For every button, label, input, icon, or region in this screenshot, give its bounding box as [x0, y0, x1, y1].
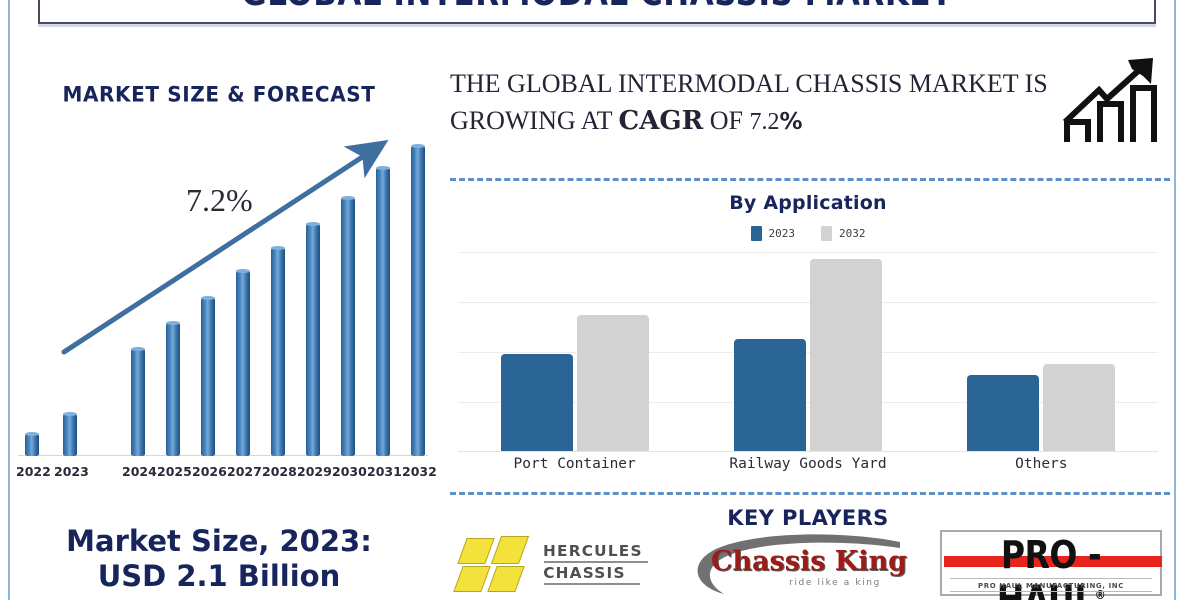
legend-item-2023[interactable]: 2023 — [751, 226, 796, 241]
cagr-statement-part2: OF — [703, 106, 749, 135]
logo-hercules-chassis[interactable]: HERCULES CHASSIS — [458, 534, 658, 596]
app-bar-others-2032 — [1043, 364, 1115, 451]
forecast-bar-2027 — [236, 271, 250, 456]
legend-label-2023: 2023 — [769, 227, 796, 240]
hercules-mark-d — [487, 566, 524, 592]
market-size-forecast-chart — [18, 130, 428, 456]
category-label-port-container: Port Container — [458, 456, 691, 472]
legend-swatch-2032 — [821, 226, 832, 241]
cagr-value: 7.2 — [749, 109, 779, 135]
forecast-bar-2028 — [271, 248, 285, 456]
infographic-page: GLOBAL INTERMODAL CHASSIS MARKET MARKET … — [0, 0, 1200, 600]
growth-chart-icon — [1055, 52, 1173, 147]
year-label-2032: 2032 — [402, 464, 437, 479]
market-size-callout: Market Size, 2023: USD 2.1 Billion — [10, 524, 428, 595]
pro-haul-rule-bottom — [950, 591, 1152, 592]
year-label-2029: 2029 — [297, 464, 332, 479]
legend-item-2032[interactable]: 2032 — [821, 226, 866, 241]
forecast-bar-2023 — [63, 414, 77, 456]
logo-pro-haul[interactable]: PRO - HAUL® PRO HAUL MANUFACTURING, INC — [940, 530, 1162, 596]
app-bar-others-2023 — [967, 375, 1039, 451]
hercules-logo-rule2 — [544, 583, 640, 585]
year-label-2027: 2027 — [227, 464, 262, 479]
application-chart-title: By Application — [440, 192, 1176, 214]
chassis-king-tagline: ride like a king — [760, 578, 910, 588]
year-axis-labels: 2022202320242025202620272028202920302031… — [18, 464, 428, 486]
forecast-bar-2025 — [166, 323, 180, 456]
hercules-mark-a — [457, 538, 494, 564]
chart-baseline — [18, 455, 428, 456]
year-label-2023: 2023 — [54, 464, 89, 479]
category-label-railway-goods-yard: Railway Goods Yard — [691, 456, 924, 472]
app-bar-railway-goods-yard-2023 — [734, 339, 806, 451]
legend-label-2032: 2032 — [839, 227, 866, 240]
divider-top — [450, 178, 1170, 181]
forecast-bar-2032 — [411, 146, 425, 456]
chassis-king-wordmark: Chassis King — [704, 546, 914, 577]
cagr-annotation-left: 7.2% — [186, 182, 253, 219]
market-size-line2: USD 2.1 Billion — [10, 559, 428, 594]
cagr-statement: THE GLOBAL INTERMODAL CHASSIS MARKET IS … — [450, 66, 1050, 140]
forecast-bar-2022 — [25, 434, 39, 456]
gridline — [458, 302, 1158, 303]
key-players-title: KEY PLAYERS — [440, 506, 1176, 530]
pro-haul-rule-top — [950, 578, 1152, 579]
pro-haul-subtext: PRO HAUL MANUFACTURING, INC — [942, 582, 1160, 590]
year-label-2028: 2028 — [262, 464, 297, 479]
logo-chassis-king[interactable]: Chassis King ride like a king — [690, 534, 920, 596]
application-chart-legend: 20232032 — [440, 226, 1176, 241]
application-category-labels: Port ContainerRailway Goods YardOthers — [458, 456, 1158, 478]
forecast-bar-2029 — [306, 224, 320, 456]
market-size-line1: Market Size, 2023: — [10, 524, 428, 559]
year-label-2026: 2026 — [192, 464, 227, 479]
forecast-bar-2030 — [341, 198, 355, 456]
hercules-logo-rule1 — [544, 561, 648, 563]
hercules-logo-line2: CHASSIS — [543, 564, 626, 582]
forecast-bar-2026 — [201, 298, 215, 456]
cagr-keyword: CAGR — [619, 106, 704, 136]
cagr-percent-sign: % — [779, 109, 802, 135]
market-size-panel: MARKET SIZE & FORECAST 7.2% 202220232024… — [10, 34, 428, 600]
hercules-mark-b — [491, 536, 529, 564]
market-size-heading: MARKET SIZE & FORECAST — [10, 81, 428, 107]
divider-bottom — [450, 492, 1170, 495]
gridline — [458, 252, 1158, 253]
year-label-2022: 2022 — [16, 464, 51, 479]
forecast-bar-2024 — [131, 349, 145, 456]
legend-swatch-2023 — [751, 226, 762, 241]
hercules-logo-line1: HERCULES — [543, 542, 643, 560]
gridline — [458, 352, 1158, 353]
application-chart-baseline — [458, 451, 1158, 452]
app-bar-port-container-2032 — [577, 315, 649, 451]
hercules-mark-c — [453, 566, 490, 592]
app-bar-railway-goods-yard-2032 — [810, 259, 882, 451]
category-label-others: Others — [925, 456, 1158, 472]
forecast-bar-2031 — [376, 168, 390, 456]
by-application-chart — [458, 252, 1158, 452]
year-label-2030: 2030 — [332, 464, 367, 479]
year-label-2024: 2024 — [122, 464, 157, 479]
app-bar-port-container-2023 — [501, 354, 573, 451]
year-label-2025: 2025 — [157, 464, 192, 479]
year-label-2031: 2031 — [367, 464, 402, 479]
key-player-logos: HERCULES CHASSIS Chassis King ride like … — [440, 534, 1176, 598]
right-panel: THE GLOBAL INTERMODAL CHASSIS MARKET IS … — [440, 0, 1176, 600]
